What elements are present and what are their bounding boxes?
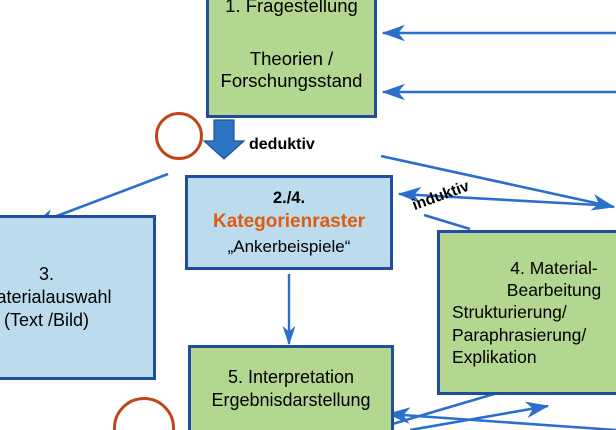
- node-interpretation-line-2: Ergebnisdarstellung: [211, 390, 370, 411]
- node-materialbearbeitung-line-1: 4. Material-: [510, 258, 598, 278]
- node-kategorienraster-line-2: Kategorienraster: [213, 211, 365, 233]
- arrow-bottom-to-materialbearbeitung: [410, 406, 548, 430]
- circle-marker-top: [155, 112, 203, 160]
- node-materialbearbeitung-line-2: Bearbeitung: [507, 280, 601, 300]
- node-interpretation[interactable]: 5. Interpretation Ergebnisdarstellung: [188, 345, 394, 430]
- node-kategorienraster-line-3: „Ankerbeispiele“: [228, 237, 351, 257]
- node-materialbearbeitung-line-5: Explikation: [452, 347, 537, 367]
- label-induktiv: induktiv: [410, 178, 472, 215]
- node-fragestellung[interactable]: 1. Fragestellung Theorien / Forschungsst…: [206, 0, 377, 118]
- node-materialauswahl-line-3: (Text /Bild): [4, 310, 89, 331]
- node-kategorienraster[interactable]: 2./4. Kategorienraster „Ankerbeispiele“: [185, 175, 393, 270]
- node-materialbearbeitung-line-4: Paraphrasierung/: [452, 325, 586, 345]
- node-materialauswahl-line-2: Materialauswahl: [0, 287, 112, 308]
- node-fragestellung-line-1: 1. Fragestellung: [225, 0, 358, 16]
- node-interpretation-line-1: 5. Interpretation: [228, 367, 354, 388]
- arrow-bottom-to-interpretation: [388, 414, 616, 430]
- node-materialauswahl[interactable]: 3. Materialauswahl (Text /Bild): [0, 215, 156, 380]
- node-kategorienraster-line-1: 2./4.: [273, 189, 305, 208]
- arrow-stub-materialbearbeitung-top: [424, 215, 470, 229]
- node-materialauswahl-line-1: 3.: [39, 264, 54, 285]
- node-fragestellung-line-3: Forschungsstand: [221, 70, 363, 91]
- diagram-canvas: 1. Fragestellung Theorien / Forschungsst…: [0, 0, 616, 430]
- label-deduktiv: deduktiv: [249, 136, 315, 154]
- node-materialbearbeitung-line-3: Strukturierung/: [452, 302, 567, 322]
- block-arrow-deduktiv: [204, 120, 244, 159]
- node-fragestellung-line-2: Theorien /: [250, 48, 333, 69]
- node-materialbearbeitung[interactable]: 4. Material- Bearbeitung Strukturierung/…: [437, 230, 616, 395]
- circle-marker-bottom: [113, 397, 175, 430]
